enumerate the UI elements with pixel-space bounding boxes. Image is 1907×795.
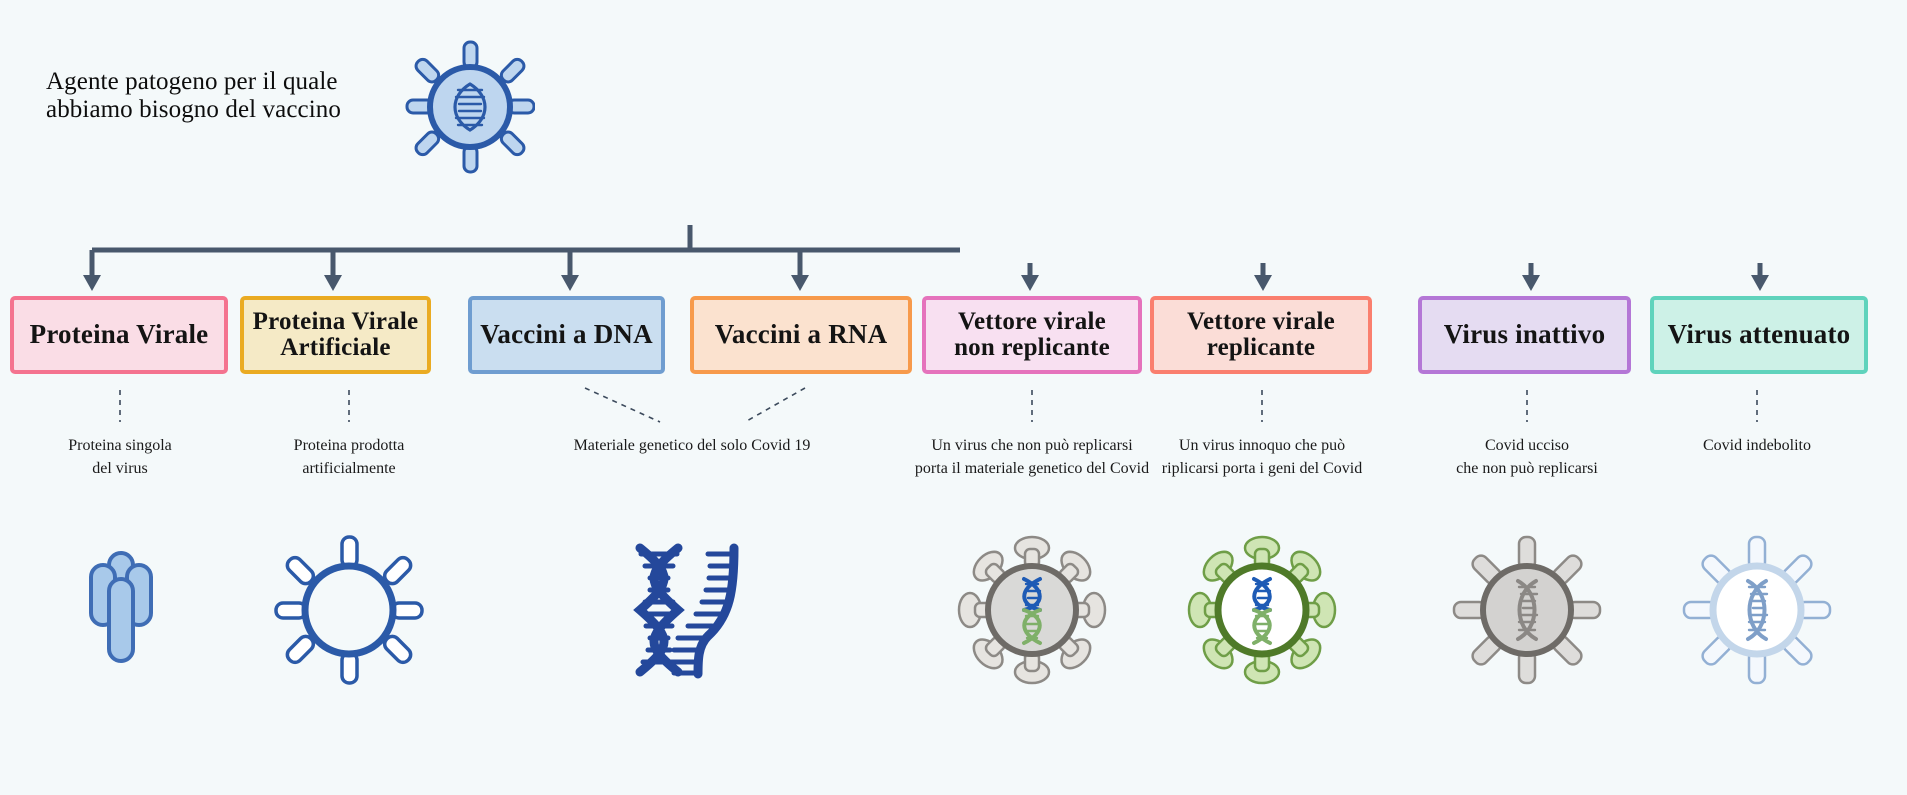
box-label: Vettore virale non replicante: [954, 309, 1110, 361]
box-label: Proteina Virale: [30, 321, 209, 349]
box-vettore-virale-replicante[interactable]: Vettore virale replicante: [1150, 296, 1372, 374]
protein-single-icon: [85, 545, 155, 675]
slot-dna-rna: [600, 525, 780, 695]
slot-artificial-protein: [264, 525, 434, 695]
arrow-heads: [83, 275, 1769, 291]
slot-inactivated-virus: [1442, 525, 1612, 695]
caption-virus-attenuato: Covid indebolito: [1617, 434, 1897, 457]
box-virus-attenuato[interactable]: Virus attenuato: [1650, 296, 1868, 374]
attenuated-virus-icon: [1682, 535, 1832, 685]
slot-replicating-vector: [1177, 525, 1347, 695]
box-label: Vaccini a RNA: [715, 321, 888, 349]
box-label: Vaccini a DNA: [480, 321, 653, 349]
replicating-vector-icon: [1187, 535, 1337, 685]
box-label: Proteina Virale Artificiale: [253, 309, 419, 361]
box-proteina-virale[interactable]: Proteina Virale: [10, 296, 228, 374]
box-vettore-virale-non-replicante[interactable]: Vettore virale non replicante: [922, 296, 1142, 374]
page-title-line2: abbiamo bisogno del vaccino: [46, 96, 416, 124]
slot-non-replicating-vector: [947, 525, 1117, 695]
vaccine-type-boxes: Proteina Virale Proteina Virale Artifici…: [0, 296, 1907, 376]
connector-lines: [0, 215, 1907, 305]
page-title-line1: Agente patogeno per il quale: [46, 68, 416, 96]
virus-ring-icon: [274, 535, 424, 685]
caption-vaccini-a-dna: Materiale genetico del solo Covid 19: [552, 434, 832, 457]
box-label: Virus attenuato: [1668, 321, 1851, 349]
diagram-canvas: Agente patogeno per il quale abbiamo bis…: [0, 0, 1907, 795]
slot-attenuated-virus: [1672, 525, 1842, 695]
caption-proteina-virale-artificiale: Proteina prodotta artificialmente: [209, 434, 489, 480]
illustration-row: [0, 525, 1907, 695]
inactivated-virus-icon: [1452, 535, 1602, 685]
slot-protein-single: [40, 525, 200, 695]
box-proteina-virale-artificiale[interactable]: Proteina Virale Artificiale: [240, 296, 431, 374]
page-title: Agente patogeno per il quale abbiamo bis…: [46, 68, 416, 124]
box-label: Vettore virale replicante: [1187, 309, 1335, 361]
box-vaccini-a-rna[interactable]: Vaccini a RNA: [690, 296, 912, 374]
caption-vettore-virale-replicante: Un virus innoquo che può riplicarsi port…: [1122, 434, 1402, 480]
box-label: Virus inattivo: [1444, 321, 1606, 349]
virus-dna-icon: [405, 40, 535, 175]
box-vaccini-a-dna[interactable]: Vaccini a DNA: [468, 296, 665, 374]
box-virus-inattivo[interactable]: Virus inattivo: [1418, 296, 1631, 374]
dna-rna-strands-icon: [610, 540, 770, 680]
caption-row: Proteina singola del virus Proteina prod…: [0, 420, 1907, 490]
non-replicating-vector-icon: [957, 535, 1107, 685]
